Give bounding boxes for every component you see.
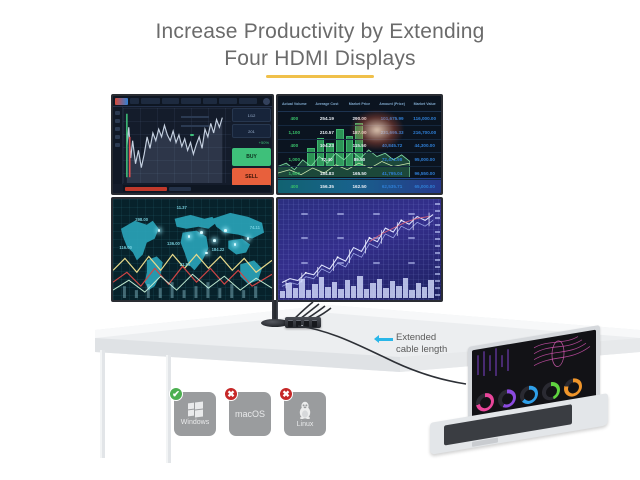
cell-volume: 1,600 (278, 171, 311, 176)
cell-avg-cost: 210.57 (311, 130, 344, 135)
monitor-bottom-left-screen: 11.37 298.00 136.00 116.00 21.85 184.22 … (113, 199, 272, 300)
os-badge-macos: ✖ macOS (229, 392, 271, 436)
right-axis-ticks (435, 203, 440, 296)
gauge-2 (498, 388, 516, 409)
cell-market-price: 165.50 (343, 171, 376, 176)
cell-amount: 72,471.98 (376, 157, 409, 162)
table-row: 400 254.19 290.00 101,675.99 116,000.00 (278, 112, 441, 126)
gauge-5 (564, 377, 582, 398)
nav-item-markets[interactable] (141, 98, 160, 104)
cell-amount: 40,845.72 (376, 143, 409, 148)
monitor-bottom-right-screen (278, 199, 441, 300)
stat-box-2: 201 (232, 124, 271, 138)
os-label: macOS (235, 409, 265, 419)
alert-ticker-bar (125, 187, 167, 191)
laptop[interactable] (430, 336, 615, 456)
cell-market-value: 116,000.00 (408, 116, 441, 121)
cell-market-price: 290.00 (343, 116, 376, 121)
column-header: Market Price (343, 102, 376, 106)
cell-avg-cost: 72.40 (311, 157, 344, 162)
user-avatar[interactable] (263, 98, 270, 105)
table-header-row: Actual Volume Average Cost Market Price … (278, 96, 441, 112)
laptop-keyboard[interactable] (444, 404, 572, 445)
os-badge-windows: ✔ Windows (174, 392, 216, 436)
order-panel: 1/12 201 +50% BUY SELL (232, 108, 271, 183)
cell-amount: 231,695.33 (376, 130, 409, 135)
sell-button[interactable]: SELL (232, 168, 271, 186)
app-logo-icon (115, 98, 128, 105)
gauge-1 (476, 392, 494, 413)
table-row: 400 156.35 162.50 62,535.71 65,000.00 (278, 180, 441, 193)
status-ticker (123, 185, 270, 192)
cell-avg-cost: 156.35 (311, 184, 344, 189)
cell-volume: 400 (278, 143, 311, 148)
map-label: 11.37 (177, 205, 187, 210)
monitor-top-right-screen: Actual Volume Average Cost Market Price … (278, 96, 441, 193)
map-label: 136.00 (167, 241, 180, 246)
os-label: Windows (181, 419, 209, 426)
cell-market-price: 115.50 (343, 143, 376, 148)
monitor-top-left-screen: 1/12 201 +50% BUY SELL (113, 96, 272, 193)
holdings-table: Actual Volume Average Cost Market Price … (278, 96, 441, 193)
map-label: 74.11 (250, 225, 260, 230)
cell-volume: 1,100 (278, 130, 311, 135)
trading-navbar (113, 96, 272, 107)
cell-amount: 101,675.99 (376, 116, 409, 121)
chart-annotation-2 (181, 125, 209, 127)
column-header: Amount (Price) (376, 102, 409, 106)
map-label: 298.00 (135, 217, 148, 222)
gauge-3 (520, 384, 538, 405)
nav-item-research[interactable] (181, 98, 201, 104)
cell-volume: 1,000 (278, 157, 311, 162)
buy-button[interactable]: BUY (232, 148, 271, 166)
chart-annotation-1 (181, 116, 209, 118)
cell-avg-cost: 104.23 (311, 143, 344, 148)
cell-market-value: 95,000.00 (408, 157, 441, 162)
monitor-top-left[interactable]: 1/12 201 +50% BUY SELL (111, 94, 274, 195)
map-label: 116.00 (119, 245, 132, 250)
nav-item-account[interactable] (219, 98, 237, 104)
unsupported-cross-icon: ✖ (279, 387, 293, 401)
price-chart (123, 108, 231, 183)
supported-check-icon: ✔ (169, 387, 183, 401)
zoom-tool-icon[interactable] (115, 143, 120, 147)
cell-market-price: 187.00 (343, 130, 376, 135)
os-compatibility-badges: ✔ Windows ✖ macOS ✖ (174, 392, 326, 436)
nav-item-trade[interactable] (162, 98, 179, 104)
cell-market-value: 216,700.00 (408, 130, 441, 135)
ticker-bar-2 (169, 187, 191, 191)
cell-market-price: 162.50 (343, 184, 376, 189)
measure-tool-icon[interactable] (115, 127, 120, 131)
gain-percent: +50% (232, 140, 271, 145)
cell-market-value: 44,300.00 (408, 143, 441, 148)
cell-avg-cost: 254.19 (311, 116, 344, 121)
cell-market-value: 65,000.00 (408, 184, 441, 189)
nav-item-settings[interactable] (239, 98, 257, 104)
table-row: 400 104.23 115.50 40,845.72 44,300.00 (278, 140, 441, 154)
draw-tool-icon[interactable] (115, 119, 120, 123)
callout-leader-line (378, 338, 393, 341)
os-label: Linux (297, 421, 314, 428)
os-badge-linux: ✖ Linux (284, 392, 326, 436)
tux-penguin-icon (297, 401, 313, 419)
nav-item-news[interactable] (203, 98, 217, 104)
cell-amount: 62,535.71 (376, 184, 409, 189)
cell-market-value: 96,550.00 (408, 171, 441, 176)
stat-box-1: 1/12 (232, 108, 271, 122)
cell-amount: 41,795.04 (376, 171, 409, 176)
tool-rail[interactable] (113, 107, 123, 184)
indicator-tool-icon[interactable] (115, 135, 120, 139)
map-label: 21.85 (180, 262, 190, 267)
monitor-bottom-left[interactable]: 11.37 298.00 136.00 116.00 21.85 184.22 … (111, 197, 274, 302)
column-header: Average Cost (311, 102, 344, 106)
cell-volume: 400 (278, 116, 311, 121)
cell-avg-cost: 184.83 (311, 171, 344, 176)
monitor-array: 1/12 201 +50% BUY SELL (111, 94, 443, 302)
cell-market-price: 85.50 (343, 157, 376, 162)
map-label: 184.22 (212, 247, 225, 252)
cursor-tool-icon[interactable] (115, 111, 120, 115)
gauge-4 (542, 381, 560, 402)
windows-logo-icon (188, 402, 203, 417)
price-tag-badge (190, 134, 194, 136)
monitor-bottom-right[interactable] (276, 197, 443, 302)
monitor-top-right[interactable]: Actual Volume Average Cost Market Price … (276, 94, 443, 195)
product-marketing-image: Increase Productivity by Extending Four … (0, 0, 640, 480)
column-header: Actual Volume (278, 102, 311, 106)
cell-volume: 400 (278, 184, 311, 189)
column-header: Market Value (408, 102, 441, 106)
unsupported-cross-icon: ✖ (224, 387, 238, 401)
table-row: 1,100 210.57 187.00 231,695.33 216,700.0… (278, 126, 441, 140)
world-map-continents (113, 199, 272, 300)
table-row: 1,000 72.40 85.50 72,471.98 95,000.00 (278, 153, 441, 167)
nav-menu-icon[interactable] (130, 98, 139, 104)
table-row: 1,600 184.83 165.50 41,795.04 96,550.00 (278, 167, 441, 181)
